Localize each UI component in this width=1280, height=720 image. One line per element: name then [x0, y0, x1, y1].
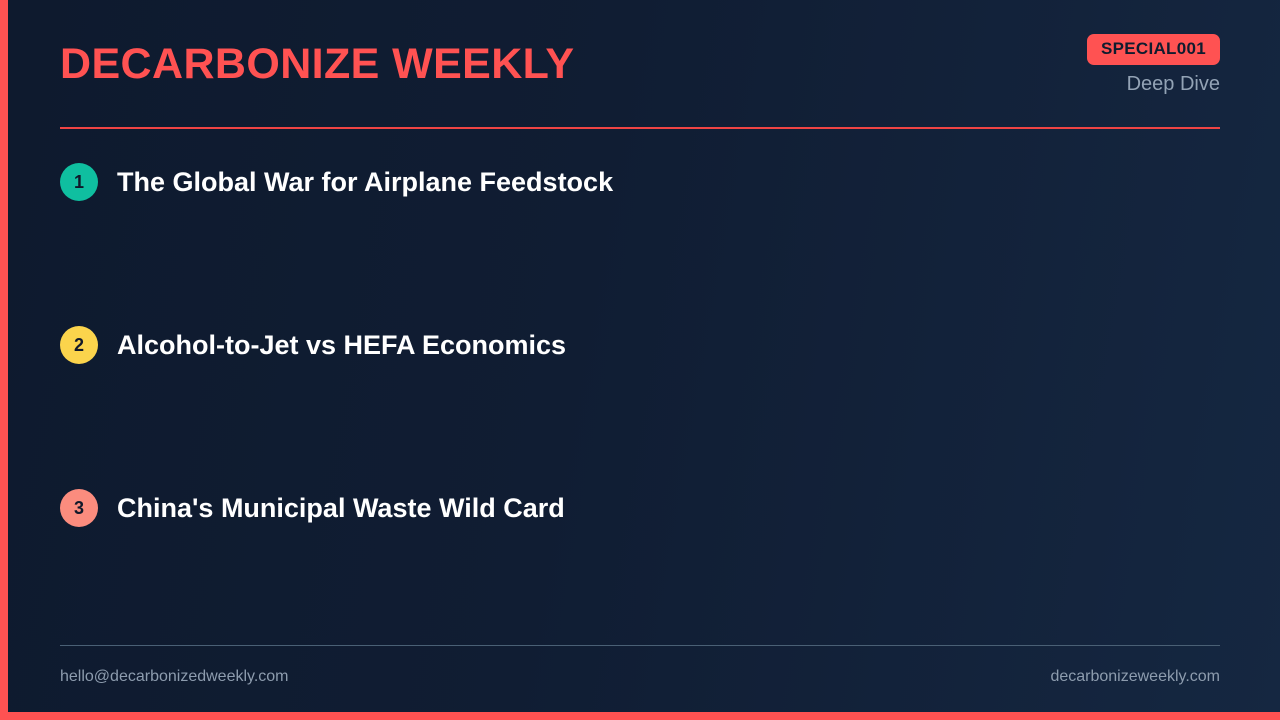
item-number-badge: 2 [60, 326, 98, 364]
item-title: China's Municipal Waste Wild Card [117, 486, 565, 530]
status-badge: SPECIAL001 [1087, 34, 1220, 65]
footer-divider [60, 645, 1220, 646]
item-number-badge: 1 [60, 163, 98, 201]
item-title: Alcohol-to-Jet vs HEFA Economics [117, 323, 566, 367]
header-meta: SPECIAL001 Deep Dive [1087, 34, 1220, 97]
slide-header: DECARBONIZE WEEKLY SPECIAL001 Deep Dive [60, 34, 1220, 122]
list-item: 3 China's Municipal Waste Wild Card [60, 489, 1220, 652]
item-number-badge: 3 [60, 489, 98, 527]
item-title: The Global War for Airplane Feedstock [117, 160, 613, 204]
slide-footer: hello@decarbonizedweekly.com decarbonize… [60, 665, 1220, 689]
page-title: DECARBONIZE WEEKLY [60, 34, 575, 94]
header-divider [60, 127, 1220, 129]
list-item: 1 The Global War for Airplane Feedstock [60, 163, 1220, 326]
newsletter-slide: DECARBONIZE WEEKLY SPECIAL001 Deep Dive … [0, 0, 1280, 720]
website-url: decarbonizeweekly.com [1050, 665, 1220, 689]
issue-kicker: Deep Dive [1087, 71, 1220, 97]
left-accent-bar [0, 0, 8, 720]
agenda-list: 1 The Global War for Airplane Feedstock … [60, 163, 1220, 652]
contact-email: hello@decarbonizedweekly.com [60, 665, 289, 689]
list-item: 2 Alcohol-to-Jet vs HEFA Economics [60, 326, 1220, 489]
bottom-accent-bar [0, 712, 1280, 720]
